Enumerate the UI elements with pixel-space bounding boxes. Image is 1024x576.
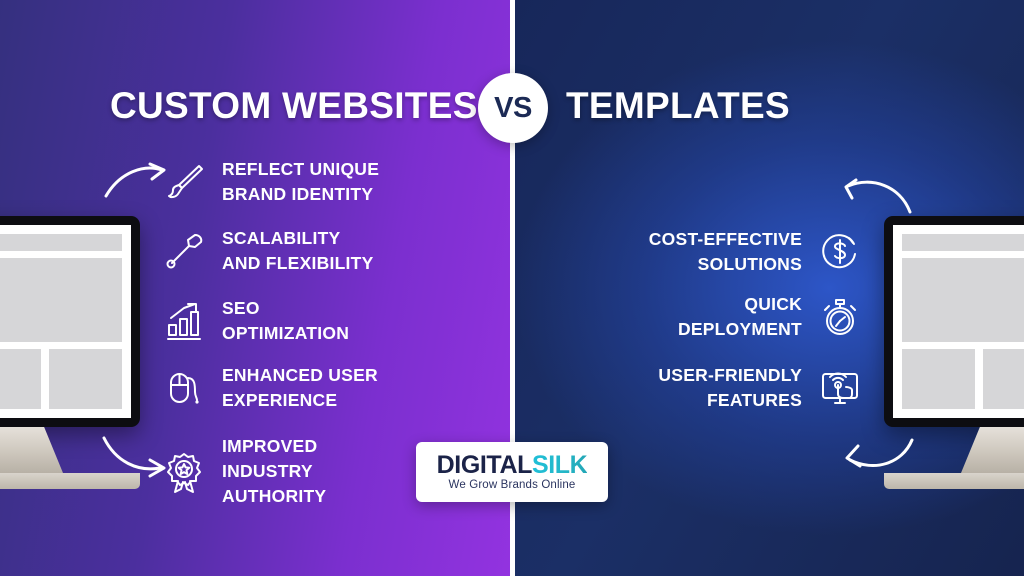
computer-mouse-icon — [162, 366, 206, 410]
wireframe-hero-block — [0, 258, 122, 342]
benefit-label: COST-EFFECTIVE SOLUTIONS — [649, 227, 802, 277]
benefit-row-brand-identity: REFLECT UNIQUE BRAND IDENTITY — [162, 157, 379, 207]
wireframe-column — [0, 349, 41, 409]
dollar-coin-icon — [818, 230, 862, 274]
monitor-screen-wireframe — [0, 225, 131, 418]
benefit-row-industry-authority: IMPROVED INDUSTRY AUTHORITY — [162, 434, 326, 510]
award-ribbon-icon — [162, 450, 206, 494]
headline-templates: TEMPLATES — [566, 85, 790, 127]
monitor-bezel — [0, 216, 140, 427]
wireframe-header-bar — [0, 234, 122, 251]
wireframe-columns — [902, 349, 1024, 409]
wireframe-column — [49, 349, 122, 409]
benefit-row-user-friendly: USER-FRIENDLY FEATURES — [658, 363, 862, 413]
vs-badge: VS — [478, 73, 548, 143]
benefit-label: ENHANCED USER EXPERIENCE — [222, 363, 378, 413]
infographic-canvas: CUSTOM WEBSITES VS TEMPLATES — [0, 0, 1024, 576]
touch-screen-icon — [818, 366, 862, 410]
monitor-illustration-left — [0, 216, 140, 489]
monitor-stand-foot — [0, 473, 140, 489]
bar-chart-growth-icon — [162, 299, 206, 343]
benefit-row-scalability: SCALABILITY AND FLEXIBILITY — [162, 226, 374, 276]
monitor-screen-wireframe — [893, 225, 1024, 418]
wireframe-header-bar — [902, 234, 1024, 251]
benefit-label: REFLECT UNIQUE BRAND IDENTITY — [222, 157, 379, 207]
monitor-stand-neck — [0, 427, 63, 473]
logo-wordmark: DIGITALSILK — [437, 453, 588, 478]
monitor-illustration-right — [884, 216, 1024, 489]
wireframe-column — [902, 349, 975, 409]
wireframe-column — [983, 349, 1024, 409]
vs-badge-label: VS — [494, 92, 532, 125]
benefit-row-quick-deployment: QUICK DEPLOYMENT — [678, 292, 862, 342]
monitor-bezel — [884, 216, 1024, 427]
paintbrush-icon — [162, 160, 206, 204]
headline-custom-websites: CUSTOM WEBSITES — [110, 85, 478, 127]
benefit-label: SCALABILITY AND FLEXIBILITY — [222, 226, 374, 276]
benefit-label: QUICK DEPLOYMENT — [678, 292, 802, 342]
wireframe-hero-block — [902, 258, 1024, 342]
wrench-icon — [162, 229, 206, 273]
benefit-row-user-experience: ENHANCED USER EXPERIENCE — [162, 363, 378, 413]
monitor-stand-foot — [884, 473, 1024, 489]
stopwatch-icon — [818, 295, 862, 339]
monitor-stand-neck — [961, 427, 1024, 473]
benefit-label: USER-FRIENDLY FEATURES — [658, 363, 802, 413]
logo-word-digital: DIGITAL — [437, 451, 532, 479]
logo-word-silk: SILK — [532, 451, 587, 479]
logo-tagline: We Grow Brands Online — [449, 479, 576, 491]
digital-silk-logo-badge[interactable]: DIGITALSILK We Grow Brands Online — [416, 442, 608, 502]
benefit-label: SEO OPTIMIZATION — [222, 296, 349, 346]
benefit-row-cost-effective: COST-EFFECTIVE SOLUTIONS — [649, 227, 862, 277]
benefit-label: IMPROVED INDUSTRY AUTHORITY — [222, 434, 326, 510]
wireframe-columns — [0, 349, 122, 409]
benefit-row-seo: SEO OPTIMIZATION — [162, 296, 349, 346]
